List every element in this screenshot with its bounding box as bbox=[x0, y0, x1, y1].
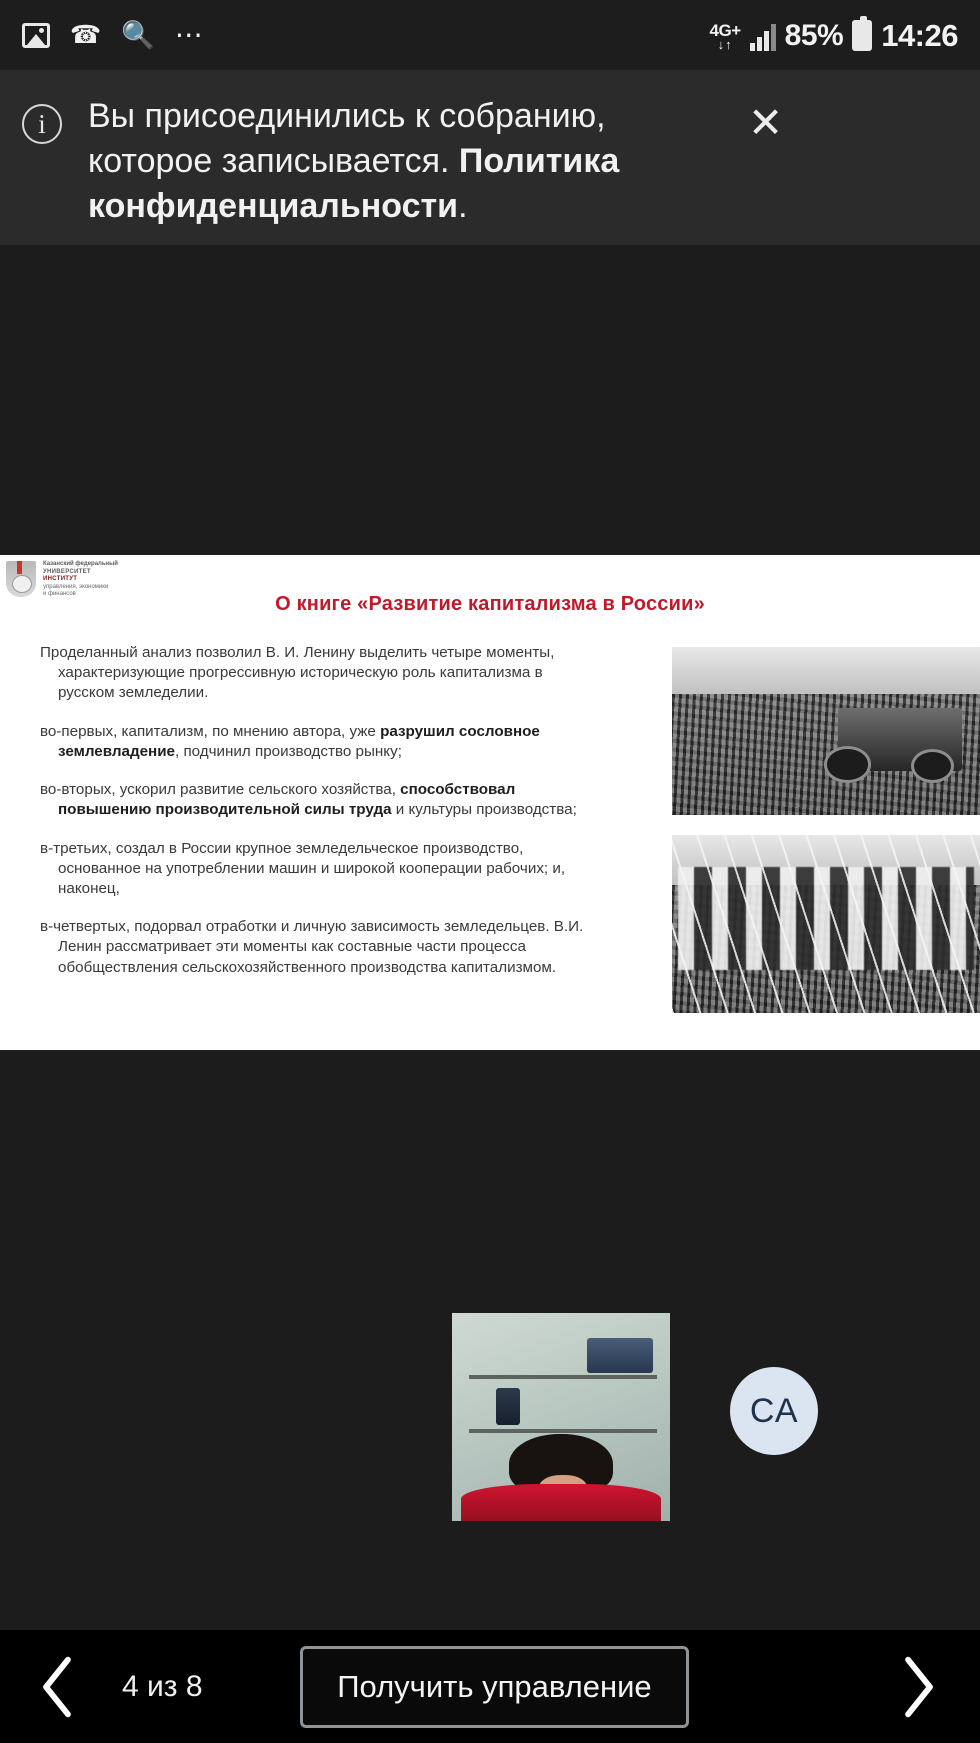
data-arrows-icon: ↓↑ bbox=[718, 38, 733, 51]
logo-line-3: ИНСТИТУТ bbox=[43, 576, 118, 584]
photo-icon bbox=[22, 23, 50, 48]
status-bar: ☎ 🔍 ⋯ 4G+ ↓↑ 85% 14:26 bbox=[0, 0, 980, 70]
slide-counter: 4 из 8 bbox=[122, 1670, 203, 1704]
slide-text-run: , подчинил производство рынку; bbox=[175, 743, 402, 760]
avatar[interactable]: CA bbox=[730, 1367, 818, 1455]
slide-paragraph: в-четвертых, подорвал отработки и личную… bbox=[40, 917, 600, 978]
university-crest-icon bbox=[6, 561, 36, 597]
slide-paragraph: Проделанный анализ позволил В. И. Ленину… bbox=[40, 643, 600, 704]
take-control-button[interactable]: Получить управление bbox=[300, 1646, 688, 1728]
slide-text-run: Проделанный анализ позволил В. И. Ленину… bbox=[40, 644, 554, 701]
slide-text-run: во-вторых, ускорил развитие сельского хо… bbox=[40, 781, 400, 798]
presentation-slide[interactable]: Казанский федеральный УНИВЕРСИТЕТ ИНСТИТ… bbox=[0, 555, 980, 1050]
logo-line-1: Казанский федеральный bbox=[43, 561, 118, 569]
clock-label: 14:26 bbox=[881, 20, 958, 51]
slide-paragraph: во-первых, капитализм, по мнению автора,… bbox=[40, 722, 600, 762]
video-lamp-shape bbox=[496, 1388, 520, 1425]
slide-title: О книге «Развитие капитализма в России» bbox=[0, 593, 980, 616]
signal-strength-icon bbox=[750, 23, 776, 51]
battery-icon bbox=[852, 20, 872, 51]
network-type-label: 4G+ bbox=[710, 22, 741, 39]
overflow-menu-icon: ⋯ bbox=[175, 27, 205, 44]
logo-line-2: УНИВЕРСИТЕТ bbox=[43, 569, 118, 577]
video-person-body bbox=[461, 1484, 662, 1521]
slide-paragraph: в-третьих, создал в России крупное земле… bbox=[40, 839, 600, 900]
slide-text-run: во-первых, капитализм, по мнению автора,… bbox=[40, 723, 380, 740]
meeting-screen: ☎ 🔍 ⋯ 4G+ ↓↑ 85% 14:26 i Вы присоединили… bbox=[0, 0, 980, 1743]
video-shelf-lower bbox=[469, 1429, 656, 1433]
battery-percent-label: 85% bbox=[785, 21, 844, 51]
harvester-in-cornfield-photo bbox=[672, 647, 980, 815]
slide-text-run: в-третьих, создал в России крупное земле… bbox=[40, 840, 565, 897]
video-shelf-upper bbox=[469, 1375, 656, 1379]
self-video-tile[interactable] bbox=[452, 1313, 670, 1521]
chevron-left-icon[interactable] bbox=[22, 1656, 92, 1718]
status-bar-left-icons: ☎ 🔍 ⋯ bbox=[22, 22, 205, 49]
video-tv-shape bbox=[587, 1338, 652, 1373]
slide-text-run: и культуры производства; bbox=[392, 801, 577, 818]
network-type-indicator: 4G+ ↓↑ bbox=[710, 22, 741, 51]
slide-body-text: Проделанный анализ позволил В. И. Ленину… bbox=[40, 643, 600, 996]
peasants-with-hoes-photo bbox=[672, 835, 980, 1013]
recording-notice-period: . bbox=[458, 187, 467, 225]
shared-content-stage[interactable]: Казанский федеральный УНИВЕРСИТЕТ ИНСТИТ… bbox=[0, 245, 980, 1630]
slide-paragraph: во-вторых, ускорил развитие сельского хо… bbox=[40, 780, 600, 820]
photo-tractor-shape bbox=[838, 708, 961, 772]
logo-line-4: управления, экономики bbox=[43, 584, 118, 592]
search-icon: 🔍 bbox=[121, 22, 155, 49]
bottom-control-bar: 4 из 8 Получить управление bbox=[0, 1630, 980, 1743]
photo-hoe-lines bbox=[672, 835, 980, 1013]
recording-notice-banner: i Вы присоединились к собранию, которое … bbox=[0, 70, 980, 245]
status-bar-right-indicators: 4G+ ↓↑ 85% 14:26 bbox=[710, 20, 958, 51]
slide-text-run: в-четвертых, подорвал отработки и личную… bbox=[40, 918, 583, 975]
chevron-right-icon[interactable] bbox=[884, 1656, 954, 1718]
info-icon: i bbox=[22, 104, 62, 144]
close-icon[interactable]: ✕ bbox=[748, 102, 783, 144]
phone-icon: ☎ bbox=[70, 23, 101, 48]
recording-notice-text: Вы присоединились к собранию, которое за… bbox=[88, 94, 728, 229]
